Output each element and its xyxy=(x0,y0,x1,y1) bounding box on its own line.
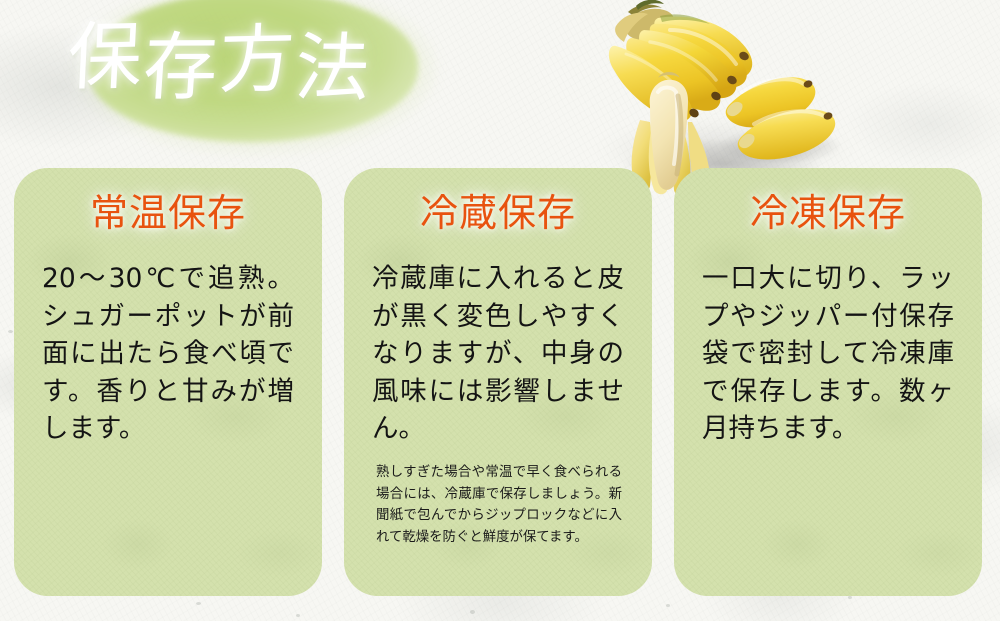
texture-speck xyxy=(470,610,475,614)
infographic-page: 保存方法 xyxy=(0,0,1000,621)
card-heading: 冷蔵保存 xyxy=(366,194,630,234)
card-refrigerated-storage: 冷蔵保存 冷蔵庫に入れると皮が黒く変色しやすくなりますが、中身の風味には影響しま… xyxy=(344,168,652,596)
card-heading: 常温保存 xyxy=(36,194,300,234)
texture-speck xyxy=(196,602,201,605)
page-title: 保存方法 xyxy=(66,15,374,95)
storage-method-cards: 常温保存 20〜30℃で追熟。シュガーポットが前面に出たら食べ頃です。香りと甘み… xyxy=(14,168,982,596)
banana-bunch-photo xyxy=(592,0,848,196)
texture-speck xyxy=(666,604,670,607)
card-room-temperature-storage: 常温保存 20〜30℃で追熟。シュガーポットが前面に出たら食べ頃です。香りと甘み… xyxy=(14,168,322,596)
page-title-char-1: 保 xyxy=(66,14,146,102)
texture-speck xyxy=(8,330,13,333)
texture-speck xyxy=(296,614,300,617)
card-frozen-storage: 冷凍保存 一口大に切り、ラップやジッパー付保存袋で密封して冷凍庫で保存します。数… xyxy=(674,168,982,596)
texture-speck xyxy=(848,596,852,599)
page-title-char-4: 法 xyxy=(293,31,375,105)
card-heading: 冷凍保存 xyxy=(696,194,960,234)
card-body-text: 20〜30℃で追熟。シュガーポットが前面に出たら食べ頃です。香りと甘みが増します… xyxy=(36,260,300,448)
card-note-text: 熟しすぎた場合や常温で早く食べられる場合には、冷蔵庫で保存しましょう。新聞紙で包… xyxy=(366,462,630,549)
card-body-text: 冷蔵庫に入れると皮が黒く変色しやすくなりますが、中身の風味には影響しません。 xyxy=(366,260,630,448)
page-title-char-3: 方 xyxy=(218,22,298,98)
page-title-char-2: 存 xyxy=(141,31,222,105)
card-body-text: 一口大に切り、ラップやジッパー付保存袋で密封して冷凍庫で保存します。数ヶ月持ちま… xyxy=(696,260,960,448)
